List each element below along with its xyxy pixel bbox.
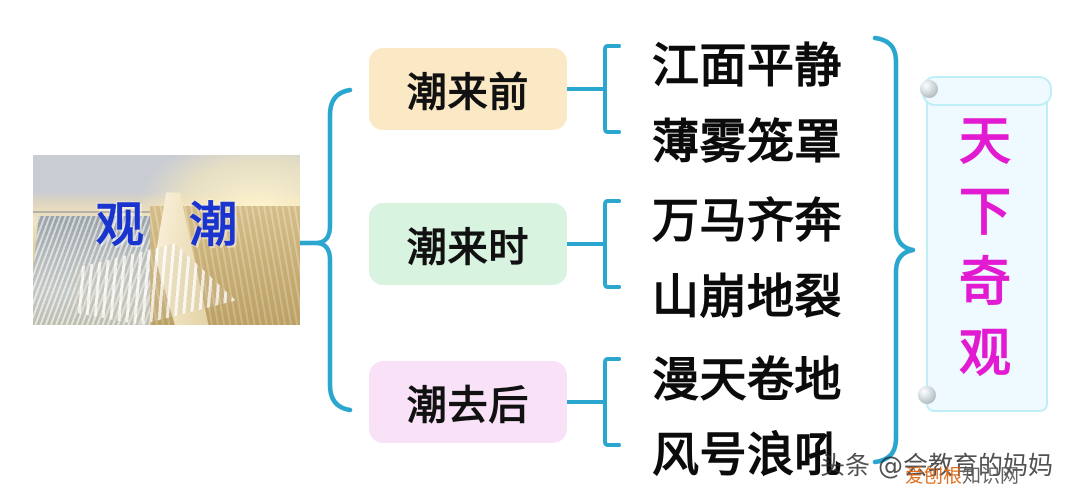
- title-photo: 观 潮: [33, 155, 300, 325]
- branch-label: 潮去后: [407, 373, 529, 431]
- branch-node-chao-lai-shi[interactable]: 潮来时: [369, 203, 567, 285]
- leaf-node: 江面平静: [652, 27, 842, 96]
- leaf-node: 漫天卷地: [652, 341, 842, 410]
- mindmap-canvas: 观 潮 潮来前 潮来时 潮去后 江面平静 薄雾笼罩 万马齐奔 山崩地裂 漫天卷地…: [0, 0, 1090, 497]
- conclusion-char: 奇: [959, 257, 1011, 309]
- branch-label: 潮来时: [407, 215, 529, 273]
- branch-node-chao-lai-qian[interactable]: 潮来前: [369, 48, 567, 130]
- branch-bracket-2: [567, 201, 619, 287]
- conclusion-text: 天 下 奇 观: [926, 98, 1044, 398]
- branch-label: 潮来前: [407, 60, 529, 118]
- leaf-node: 薄雾笼罩: [652, 103, 842, 172]
- scroll-knob-top-icon: [920, 80, 938, 98]
- page-title: 观 潮: [33, 201, 300, 249]
- conclusion-char: 天: [959, 116, 1011, 168]
- branch-bracket-1: [567, 46, 619, 132]
- conclusion-char: 下: [959, 187, 1011, 239]
- branch-node-chao-qu-hou[interactable]: 潮去后: [369, 361, 567, 443]
- watermark-site-suffix: 知识网: [962, 465, 1019, 487]
- watermark-site-prefix: 爱刨根: [905, 465, 962, 487]
- leaf-node: 万马齐奔: [652, 182, 842, 251]
- conclusion-char: 观: [959, 328, 1011, 380]
- leaf-node: 风号浪吼: [652, 416, 842, 485]
- branch-bracket-3: [567, 359, 619, 445]
- watermark-site: 爱刨根知识网: [905, 461, 1019, 488]
- main-brace-connector: [300, 90, 350, 410]
- conclusion-brace-connector: [875, 38, 913, 462]
- conclusion-scroll[interactable]: 天 下 奇 观: [918, 70, 1050, 410]
- leaf-node: 山崩地裂: [652, 258, 842, 327]
